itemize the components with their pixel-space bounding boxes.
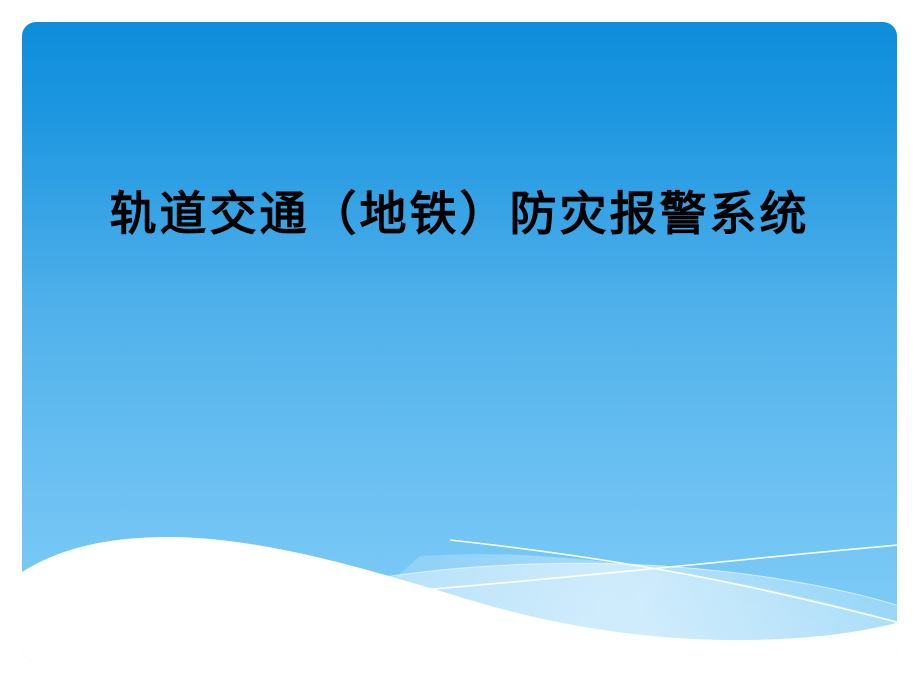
slide-canvas: 轨道交通（地铁）防灾报警系统 — [0, 0, 920, 690]
slide-background-graphic — [0, 0, 920, 690]
